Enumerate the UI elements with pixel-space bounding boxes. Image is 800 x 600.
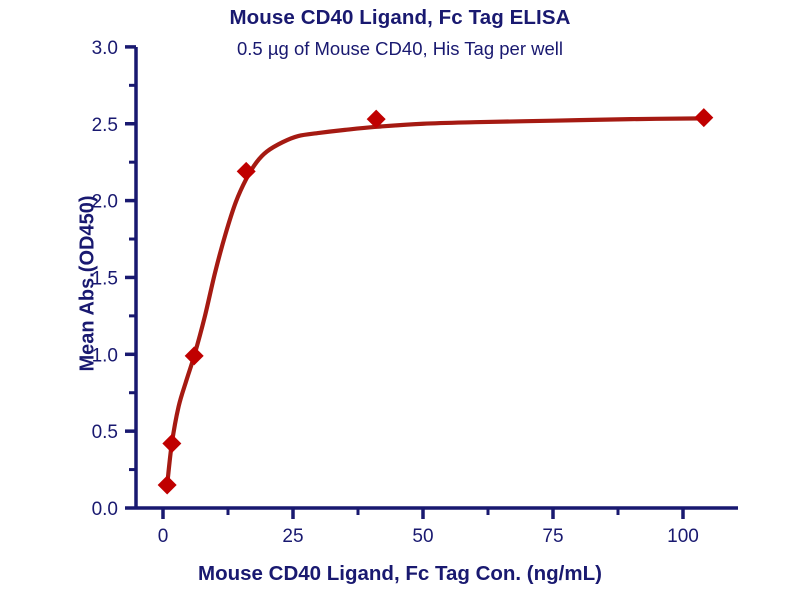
x-tick-label: 75: [542, 526, 563, 547]
data-point-marker: [185, 346, 204, 365]
y-tick-label: 0.5: [92, 422, 118, 443]
x-tick-group: 0255075100: [158, 508, 699, 547]
elisa-chart: Mouse CD40 Ligand, Fc Tag ELISA 0.5 µg o…: [0, 0, 800, 600]
y-tick-label: 2.5: [92, 115, 118, 136]
x-tick-label: 25: [282, 526, 303, 547]
y-tick-group: 0.00.51.01.52.02.53.0: [92, 38, 136, 520]
data-marker-group: [158, 108, 714, 494]
plot-area: 0.00.51.01.52.02.53.0 0255075100: [0, 0, 800, 600]
y-tick-label: 2.0: [92, 192, 118, 213]
y-tick-label: 1.0: [92, 345, 118, 366]
x-tick-label: 50: [412, 526, 433, 547]
y-tick-label: 1.5: [92, 268, 118, 289]
data-point-marker: [158, 475, 177, 494]
x-tick-label: 0: [158, 526, 169, 547]
y-tick-label: 3.0: [92, 38, 118, 59]
y-tick-label: 0.0: [92, 499, 118, 520]
axes-group: [136, 47, 738, 508]
x-tick-label: 100: [667, 526, 699, 547]
data-point-marker: [694, 108, 713, 127]
data-point-marker: [162, 434, 181, 453]
